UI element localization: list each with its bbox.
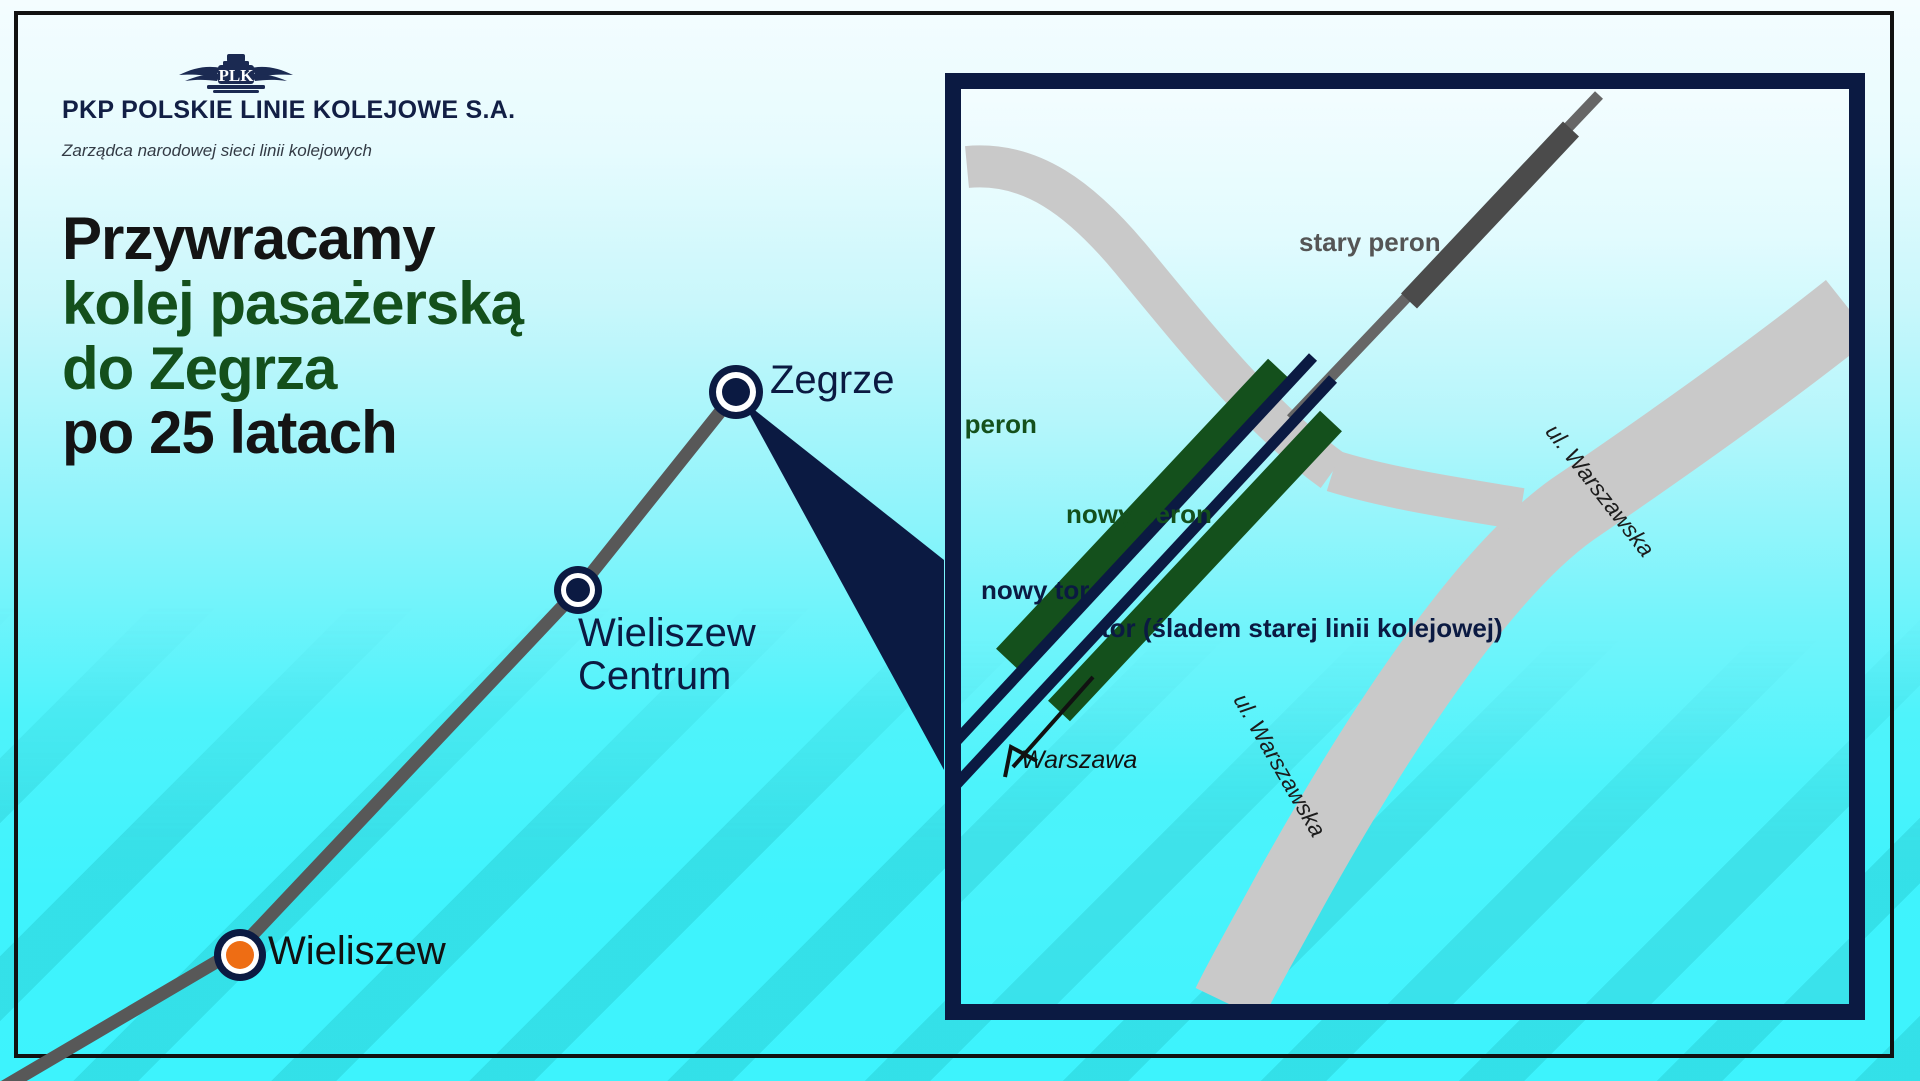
road-branch: [1333, 471, 1521, 509]
station-label-wieliszew: Wieliszew: [268, 930, 446, 973]
route-line: [0, 392, 736, 1081]
station-marker-zegrze[interactable]: [709, 365, 763, 419]
station-label-line-1: Wieliszew: [578, 611, 756, 655]
label-new-track: nowy tor: [981, 575, 1089, 606]
label-new-platform-1: nowy peron: [945, 409, 1037, 440]
station-label-zegrze: Zegrze: [770, 359, 895, 402]
label-new-platform-2: nowy peron: [1066, 499, 1212, 530]
station-marker-wieliszew-centrum[interactable]: [554, 566, 602, 614]
station-marker-wieliszew[interactable]: [214, 929, 266, 981]
inset-pointer-wedge: [742, 400, 944, 770]
label-old-alignment-track: tor (śladem starej linii kolejowej): [1101, 613, 1503, 644]
station-label-line-2: Centrum: [578, 654, 731, 698]
station-label-wieliszew-centrum: Wieliszew Centrum: [578, 612, 756, 698]
inset-detail-map: stary peron nowy peron nowy peron nowy t…: [945, 73, 1865, 1020]
label-direction-warszawa: Warszawa: [1021, 746, 1137, 775]
old-platform-bar: [1409, 129, 1571, 301]
infographic-poster: PLK PKP POLSKIE LINIE KOLEJOWE S.A. Zarz…: [0, 0, 1920, 1081]
label-old-platform: stary peron: [1299, 227, 1441, 258]
